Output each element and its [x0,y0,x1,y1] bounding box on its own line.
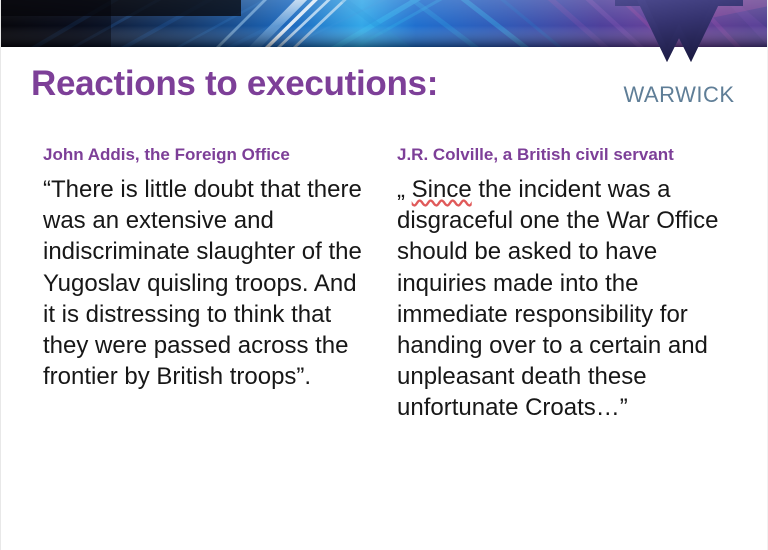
warwick-logo: WARWICK [609,0,749,116]
quote-text-right: „ Since the incident was a disgraceful o… [397,174,727,424]
quote-column-left: John Addis, the Foreign Office “There is… [43,144,373,392]
spellcheck-flagged-word: Since [412,176,472,203]
quote-attribution-right: J.R. Colville, a British civil servant [397,144,727,167]
warwick-wordmark: WARWICK [609,82,749,108]
presentation-slide: WARWICK Reactions to executions: John Ad… [0,0,768,550]
quote-attribution-left: John Addis, the Foreign Office [43,144,373,167]
quote-body-right: the incident was a disgraceful one the W… [397,176,719,421]
page-title: Reactions to executions: [31,64,438,104]
quote-body-left: “There is little doubt that there was an… [43,176,362,390]
warwick-w-shape [609,0,749,82]
quote-open-mark-right: „ [397,176,405,203]
warwick-w-mark-icon [609,0,749,82]
quote-column-right: J.R. Colville, a British civil servant „… [397,144,727,423]
quote-text-left: “There is little doubt that there was an… [43,174,373,392]
